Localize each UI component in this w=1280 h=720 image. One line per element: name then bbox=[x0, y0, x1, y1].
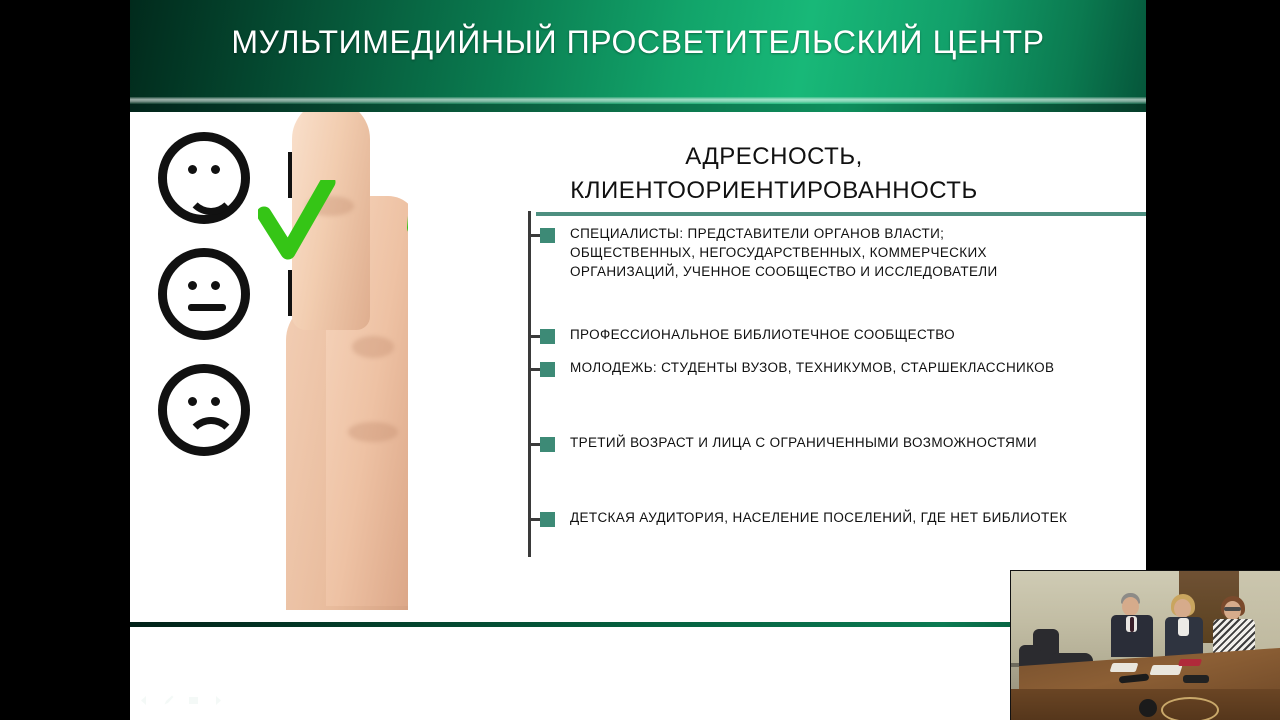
bullet-square-icon bbox=[540, 228, 555, 243]
red-folder bbox=[1178, 659, 1202, 666]
slide-header-banner: МУЛЬТИМЕДИЙНЫЙ ПРОСВЕТИТЕЛЬСКИЙ ЦЕНТР bbox=[130, 0, 1146, 112]
pen-icon[interactable] bbox=[161, 693, 176, 708]
eye-right bbox=[211, 397, 220, 406]
bullet-connector bbox=[528, 335, 540, 338]
national-library-book-emblem bbox=[596, 636, 680, 708]
presentation-nav-controls[interactable] bbox=[136, 693, 226, 708]
cable-coil bbox=[1161, 697, 1219, 720]
thumb bbox=[292, 112, 370, 330]
bullet-connector bbox=[528, 518, 540, 521]
eye-right bbox=[211, 281, 220, 290]
title-underline-rule bbox=[536, 212, 1146, 216]
eyeglasses bbox=[1224, 607, 1241, 611]
smiley-sad-icon bbox=[158, 364, 250, 456]
list-item-label: ДЕТСКАЯ АУДИТОРИЯ, НАСЕЛЕНИЕ ПОСЕЛЕНИЙ, … bbox=[570, 510, 1067, 525]
header-bottom-edge bbox=[130, 104, 1146, 112]
slide-title: АДРЕСНОСТЬ, КЛИЕНТООРИЕНТИРОВАННОСТЬ bbox=[418, 140, 1130, 208]
knuckle bbox=[306, 196, 354, 216]
list-item: ДЕТСКАЯ АУДИТОРИЯ, НАСЕЛЕНИЕ ПОСЕЛЕНИЙ, … bbox=[528, 508, 1146, 527]
camera-lens bbox=[1139, 699, 1157, 717]
slide-title-line2: КЛИЕНТООРИЕНТИРОВАННОСТЬ bbox=[418, 174, 1130, 208]
presentation-slide: МУЛЬТИМЕДИЙНЫЙ ПРОСВЕТИТЕЛЬСКИЙ ЦЕНТР bbox=[130, 0, 1146, 720]
head bbox=[1122, 597, 1139, 616]
conference-room-video-overlay[interactable] bbox=[1010, 570, 1280, 720]
paper-document bbox=[1110, 663, 1139, 672]
screen: МУЛЬТИМЕДИЙНЫЙ ПРОСВЕТИТЕЛЬСКИЙ ЦЕНТР bbox=[0, 0, 1280, 720]
bullet-square-icon bbox=[540, 437, 555, 452]
mouth-smile bbox=[185, 177, 237, 215]
eye-left bbox=[188, 281, 197, 290]
participant-1 bbox=[1111, 593, 1155, 655]
slide-content: АДРЕСНОСТЬ, КЛИЕНТООРИЕНТИРОВАННОСТЬ СПЕ… bbox=[388, 112, 1146, 622]
list-item-label: СПЕЦИАЛИСТЫ: ПРЕДСТАВИТЕЛИ ОРГАНОВ ВЛАСТ… bbox=[570, 226, 998, 279]
footer-top-edge bbox=[130, 622, 1146, 627]
list-item: ТРЕТИЙ ВОЗРАСТ И ЛИЦА С ОГРАНИЧЕННЫМИ ВО… bbox=[528, 433, 1146, 452]
list-item: МОЛОДЕЖЬ: СТУДЕНТЫ ВУЗОВ, ТЕХНИКУМОВ, СТ… bbox=[528, 358, 1146, 377]
previous-arrow-icon[interactable] bbox=[136, 693, 151, 708]
list-item: ПРОФЕССИОНАЛЬНОЕ БИБЛИОТЕЧНОЕ СООБЩЕСТВО bbox=[528, 325, 1146, 344]
smiley-happy-icon bbox=[158, 132, 250, 224]
survey-illustration bbox=[130, 112, 408, 622]
menu-icon[interactable] bbox=[186, 693, 201, 708]
slide-body: АДРЕСНОСТЬ, КЛИЕНТООРИЕНТИРОВАННОСТЬ СПЕ… bbox=[130, 112, 1146, 622]
slide-footer-banner bbox=[130, 622, 1146, 720]
mouth-frown bbox=[185, 417, 237, 455]
mouth-flat bbox=[188, 304, 226, 311]
eye-right bbox=[211, 165, 220, 174]
paper-document bbox=[1149, 665, 1182, 675]
bullet-connector bbox=[528, 234, 540, 237]
bullet-connector bbox=[528, 368, 540, 371]
necktie bbox=[1130, 617, 1134, 632]
head bbox=[1174, 599, 1191, 618]
blouse bbox=[1178, 618, 1189, 636]
list-item: СПЕЦИАЛИСТЫ: ПРЕДСТАВИТЕЛИ ОРГАНОВ ВЛАСТ… bbox=[528, 224, 1146, 281]
bullet-square-icon bbox=[540, 362, 555, 377]
bullet-connector bbox=[528, 443, 540, 446]
header-accent-stripe bbox=[130, 97, 1146, 104]
eye-left bbox=[188, 165, 197, 174]
bullet-square-icon bbox=[540, 329, 555, 344]
smiley-neutral-icon bbox=[158, 248, 250, 340]
list-item-label: ПРОФЕССИОНАЛЬНОЕ БИБЛИОТЕЧНОЕ СООБЩЕСТВО bbox=[570, 327, 955, 342]
header-title: МУЛЬТИМЕДИЙНЫЙ ПРОСВЕТИТЕЛЬСКИЙ ЦЕНТР bbox=[130, 24, 1146, 61]
bullet-square-icon bbox=[540, 512, 555, 527]
list-item-label: МОЛОДЕЖЬ: СТУДЕНТЫ ВУЗОВ, ТЕХНИКУМОВ, СТ… bbox=[570, 360, 1054, 375]
bullet-list: СПЕЦИАЛИСТЫ: ПРЕДСТАВИТЕЛИ ОРГАНОВ ВЛАСТ… bbox=[528, 224, 1146, 549]
participant-2 bbox=[1163, 595, 1205, 655]
list-item-label: ТРЕТИЙ ВОЗРАСТ И ЛИЦА С ОГРАНИЧЕННЫМИ ВО… bbox=[570, 435, 1037, 450]
device bbox=[1183, 675, 1209, 683]
next-arrow-icon[interactable] bbox=[211, 693, 226, 708]
eye-left bbox=[188, 397, 197, 406]
slide-title-line1: АДРЕСНОСТЬ, bbox=[418, 140, 1130, 174]
